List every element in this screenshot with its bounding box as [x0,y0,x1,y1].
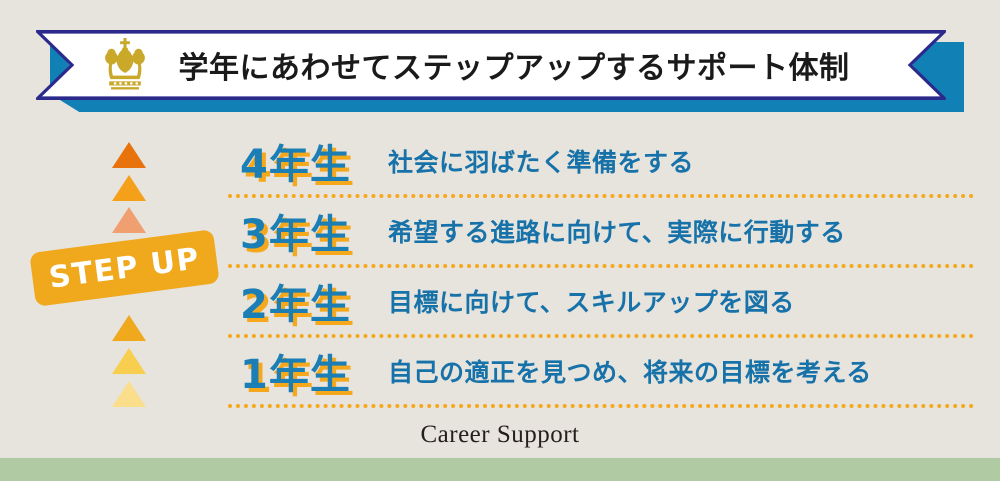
triangle-step-2 [112,348,146,374]
grade-description: 社会に羽ばたく準備をする [388,143,694,179]
triangle-step-5 [112,175,146,201]
list-item: 2年生 目標に向けて、スキルアップを図る [228,268,974,334]
grade-list: 4年生 社会に羽ばたく準備をする 3年生 希望する進路に向けて、実際に行動する … [228,128,974,408]
list-item: 4年生 社会に羽ばたく準備をする [228,128,974,194]
footer: Career Support [0,421,1000,449]
footer-text: Career Support [420,421,579,448]
triangle-step-1 [112,381,146,407]
triangle-step-6 [112,142,146,168]
infographic-canvas: 学年にあわせてステップアップするサポート体制 STEP UP 4年生 社会に羽ば… [0,0,1000,481]
triangle-step-3 [112,315,146,341]
grade-label: 1年生 [228,342,388,400]
step-up-label: STEP UP [47,241,202,296]
grade-label: 2年生 [228,272,388,330]
grade-description: 自己の適正を見つめ、将来の目標を考える [388,353,872,389]
grade-label: 3年生 [228,202,388,260]
grade-description: 目標に向けて、スキルアップを図る [388,283,795,319]
page-title: 学年にあわせてステップアップするサポート体制 [179,43,850,87]
list-item: 3年生 希望する進路に向けて、実際に行動する [228,198,974,264]
grade-description: 希望する進路に向けて、実際に行動する [388,213,846,249]
row-divider [228,404,974,408]
triangle-step-4 [112,207,146,233]
grade-label: 4年生 [228,132,388,190]
list-item: 1年生 自己の適正を見つめ、将来の目標を考える [228,338,974,404]
